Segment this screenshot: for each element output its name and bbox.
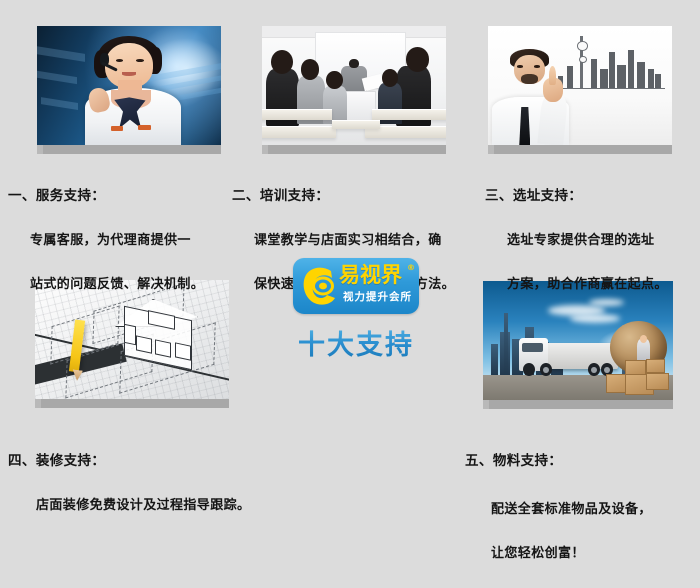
brand-slogan: 十大支持: [293, 323, 419, 362]
section-title-materials-support: 五、物料支持：: [465, 451, 700, 472]
section-number-1: 一、: [8, 188, 36, 204]
trademark-icon: ®: [407, 263, 415, 272]
section-text-site-selection-support: 三、选址支持： 选址专家提供合理的选址 方案，助合作商赢在起点。: [485, 162, 700, 319]
section-body-line1-4: 店面装修免费设计及过程指导跟踪。: [8, 496, 328, 516]
section-body-line1-5: 配送全套标准物品及设备，: [465, 500, 700, 520]
section-body-line2-5: 让您轻松创富！: [465, 544, 700, 564]
image-site-selection-support: [488, 26, 672, 154]
section-text-decoration-support: 四、装修支持： 店面装修免费设计及过程指导跟踪。: [8, 427, 328, 540]
logo-brand-name: 易视界: [339, 265, 402, 286]
section-body-line2-3: 方案，助合作商赢在起点。: [485, 275, 700, 295]
section-heading-5: 物料支持：: [493, 453, 563, 469]
logo-badge: 易视界 视力提升会所 ®: [293, 258, 419, 314]
section-body-line1-1: 专属客服，为代理商提供一: [8, 231, 233, 251]
section-body-line1-2: 课堂教学与店面实习相结合，确: [232, 231, 477, 251]
section-heading-1: 服务支持：: [36, 188, 106, 204]
stylized-e-eye-icon: [300, 264, 340, 308]
brand-logo-block: 易视界 视力提升会所 ® 十大支持: [293, 258, 419, 366]
section-title-site-selection-support: 三、选址支持：: [485, 186, 700, 207]
section-text-service-support: 一、服务支持： 专属客服，为代理商提供一 站式的问题反馈、解决机制。: [8, 162, 233, 319]
section-title-decoration-support: 四、装修支持：: [8, 451, 328, 472]
section-text-materials-support: 五、物料支持： 配送全套标准物品及设备， 让您轻松创富！: [465, 427, 700, 588]
image-training-support: [262, 26, 446, 154]
section-body-line1-3: 选址专家提供合理的选址: [485, 231, 700, 251]
image-service-support: [37, 26, 221, 154]
section-body-line2-1: 站式的问题反馈、解决机制。: [8, 275, 233, 295]
logo-brand-subtitle: 视力提升会所: [343, 292, 412, 303]
section-title-service-support: 一、服务支持：: [8, 186, 233, 207]
section-title-training-support: 二、培训支持：: [232, 186, 477, 207]
section-number-2: 二、: [232, 188, 260, 204]
section-heading-3: 选址支持：: [513, 188, 583, 204]
section-number-4: 四、: [8, 453, 36, 469]
poster-canvas: 一、服务支持： 专属客服，为代理商提供一 站式的问题反馈、解决机制。 二、培训支…: [0, 0, 700, 531]
section-number-5: 五、: [465, 453, 493, 469]
section-number-3: 三、: [485, 188, 513, 204]
section-heading-4: 装修支持：: [36, 453, 106, 469]
section-heading-2: 培训支持：: [260, 188, 330, 204]
